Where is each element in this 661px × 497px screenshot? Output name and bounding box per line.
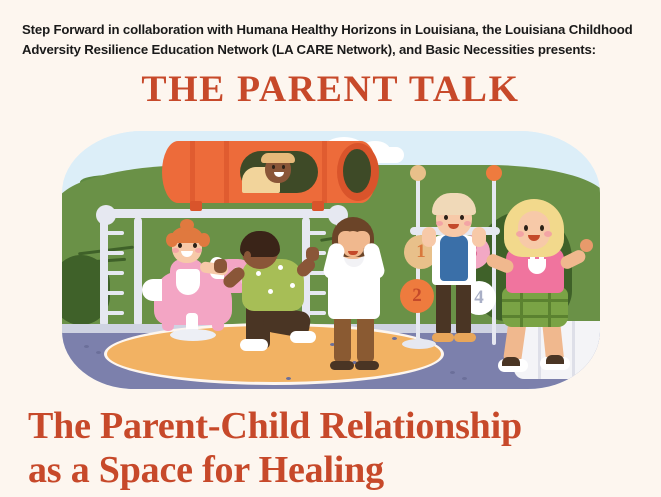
- ladder-rung: [102, 311, 124, 315]
- child-shoe: [290, 331, 316, 343]
- ladder-rung: [102, 251, 124, 255]
- child-eye: [178, 243, 182, 248]
- ladder-rung: [102, 231, 124, 235]
- tunnel-ring: [224, 141, 229, 203]
- child-eye: [282, 165, 285, 169]
- counting-frame-knob: [486, 165, 502, 181]
- child-sandal: [355, 361, 379, 370]
- child-hair-top-bun: [180, 219, 194, 231]
- poster-canvas: Step Forward in collaboration with Human…: [0, 0, 661, 497]
- child-bib: [176, 269, 200, 295]
- pebble: [462, 377, 467, 380]
- child-shoe-top: [546, 355, 564, 364]
- shorts-plaid-line: [502, 299, 568, 302]
- ladder-rung: [102, 271, 124, 275]
- headline-line-1: The Parent-Child Relationship: [28, 404, 628, 448]
- tunnel-clip: [190, 201, 202, 211]
- child-sandal: [432, 333, 454, 342]
- tunnel-clip: [312, 201, 324, 211]
- child-leg: [456, 279, 471, 335]
- ladder-rung: [304, 291, 326, 295]
- child-shoe: [240, 339, 268, 351]
- headline-line-2: as a Space for Healing: [28, 448, 628, 492]
- child-sandal: [330, 361, 354, 370]
- child-hand: [214, 259, 227, 273]
- child-arm: [422, 227, 436, 247]
- counting-circle-2: 2: [400, 279, 434, 313]
- shirt-dot: [268, 289, 273, 294]
- child-leg: [436, 279, 451, 335]
- frame-top-bar: [100, 209, 344, 218]
- child-cheek: [516, 231, 524, 237]
- rocking-horse-leg: [212, 317, 224, 331]
- child-cheek: [464, 221, 471, 226]
- intro-line-2: Adversity Resilience Education Network (…: [22, 42, 596, 57]
- intro-paragraph: Step Forward in collaboration with Human…: [22, 20, 640, 60]
- child-hair-bun: [198, 233, 210, 247]
- child-vest: [440, 235, 468, 281]
- tunnel-ring: [322, 141, 327, 203]
- shirt-dot: [256, 271, 261, 276]
- counting-frame-base: [402, 339, 436, 349]
- frame-corner: [96, 205, 116, 225]
- pebble: [392, 337, 397, 340]
- rocking-horse-tail: [142, 279, 162, 301]
- child-ear: [244, 251, 251, 260]
- pebble: [84, 345, 89, 348]
- ladder-rung: [102, 291, 124, 295]
- ladder-rung: [304, 231, 326, 235]
- child-eye: [272, 165, 275, 169]
- white-tunnel-ring: [572, 321, 575, 379]
- child-eye: [540, 225, 544, 231]
- shorts-plaid-line: [502, 315, 568, 318]
- poster-headline: The Parent-Child Relationship as a Space…: [28, 404, 628, 493]
- child-shoe-top: [502, 357, 520, 366]
- child-face: [518, 211, 550, 249]
- child-eye: [444, 215, 448, 220]
- child-hair-bun: [166, 233, 178, 247]
- frame-post: [134, 217, 142, 327]
- child-eye: [524, 225, 528, 231]
- white-tunnel-ring: [538, 321, 541, 379]
- child-sandal: [454, 333, 476, 342]
- tunnel-hole: [343, 149, 371, 193]
- playground-tunnel: [162, 141, 377, 203]
- child-cheek: [436, 221, 443, 226]
- child-hand: [306, 247, 319, 261]
- shirt-dot: [290, 283, 295, 288]
- rocking-horse-base: [170, 329, 216, 341]
- shorts-plaid-line: [548, 287, 551, 327]
- pebble: [450, 371, 455, 374]
- child-hat: [261, 153, 295, 163]
- pebble: [96, 351, 101, 354]
- child-arm: [472, 227, 486, 247]
- counting-frame-knob: [410, 165, 426, 181]
- pebble: [286, 377, 291, 380]
- child-cheek: [195, 248, 202, 253]
- tunnel-ring: [190, 141, 195, 203]
- rocking-horse-leg: [162, 317, 174, 331]
- child-cheek: [544, 231, 552, 237]
- child-cheek: [172, 248, 179, 253]
- intro-line-1: Step Forward in collaboration with Human…: [22, 22, 633, 37]
- child-hand: [580, 239, 593, 252]
- shirt-dot: [278, 265, 283, 270]
- series-title: THE PARENT TALK: [0, 68, 661, 111]
- child-shorts: [502, 287, 568, 327]
- child-eye: [460, 215, 464, 220]
- shorts-plaid-line: [520, 287, 523, 327]
- playground-illustration: 1 3 2 4: [62, 131, 600, 389]
